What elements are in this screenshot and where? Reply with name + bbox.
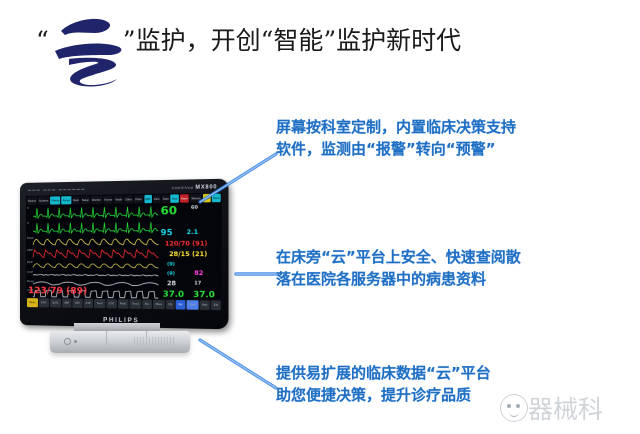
callout-2-line-2: 落在医院各服务器中的病患资料 (276, 268, 521, 290)
watermark: 器械科 (498, 388, 640, 434)
monitor-top-button-6[interactable]: Monitor (91, 196, 102, 204)
vital-awrr: 17 (194, 282, 201, 287)
callout-text-1: 屏幕按科室定制，内置临床决策支持 软件，监测由“报警”转向“预警” (276, 116, 516, 160)
callout-2-line-1: 在床旁“云”平台上安全、快速查阅散 (276, 246, 521, 268)
waveform-label-v: V (27, 221, 29, 225)
waveform-label-cvp: CVP (27, 270, 33, 274)
monitor-top-button-9[interactable]: Calcs (124, 195, 133, 203)
monitor-bottom-button-3[interactable]: ABP (62, 299, 72, 308)
page-title: “ ”监护，开创“智能”监护新时代 (36, 26, 461, 63)
monitor-bottom-toolbar[interactable]: MenuECGSpO2ABPPAPCVPTempCO2RespTrendRecW… (26, 297, 222, 311)
connector-line-1 (196, 150, 280, 211)
waveform-label-ii: II (27, 206, 29, 210)
monitor-top-button-14[interactable]: Stop (171, 194, 179, 202)
watermark-logo-icon (500, 394, 528, 422)
vital-nbp: 82 (194, 271, 203, 277)
monitor-bottom-button-8[interactable]: Resp (118, 299, 129, 308)
base-seam (106, 331, 107, 345)
monitor-brand-line: IntelliVue (172, 185, 194, 191)
page-title-bar: “ ”监护，开创“智能”监护新时代 (0, 0, 640, 88)
waveform-label-abp: ABP (27, 248, 33, 252)
monitor-top-button-7[interactable]: Trends (103, 195, 113, 203)
watermark-eye-right-icon (516, 404, 520, 408)
watermark-eye-left-icon (507, 404, 511, 408)
monitor-bottom-button-16[interactable]: Exit (211, 300, 221, 310)
waveform-row-ii: II (26, 204, 158, 221)
waveform-row-pap: PAP (26, 260, 158, 271)
vital-tblood: 37.0 (163, 290, 184, 299)
monitor-bottom-button-9[interactable]: Trend (129, 299, 141, 308)
vital-co2: 28 (167, 281, 176, 287)
vital-perf: 2.1 (187, 230, 199, 236)
watermark-smile-icon (509, 411, 519, 417)
monitor-top-button-2[interactable]: Alarms (50, 196, 60, 204)
title-rest-text: 监护，开创“智能”监护新时代 (136, 26, 462, 55)
connector-line-3 (196, 336, 280, 397)
callout-1-line-2: 软件，监测由“报警”转向“预警” (276, 138, 516, 160)
monitor-bottom-button-7[interactable]: CO2 (106, 299, 116, 308)
vital-abp: 120/70 (91) (165, 241, 208, 247)
waveform-row-pleth: Pleth (26, 235, 158, 248)
monitor-top-button-5[interactable]: Setup (81, 196, 90, 204)
monitor-top-button-12[interactable]: Zero (153, 195, 161, 203)
callout-3-line-2: 助您便捷决策，提升诊疗品质 (276, 384, 491, 406)
monitor-top-button-11[interactable]: NBP (144, 195, 152, 203)
monitor-bottom-button-4[interactable]: PAP (73, 299, 83, 308)
vital-spo2: 95 (161, 229, 173, 237)
monitor-screen[interactable]: PatientScreensAlarmsPauseMainSetupMonito… (26, 193, 222, 312)
nbp-readout: 123/79 (89) (28, 286, 87, 297)
waveform-row-abp: ABP (26, 248, 158, 260)
watermark-text: 器械科 (528, 390, 603, 426)
callout-3-line-1: 提供易扩展的临床数据“云”平台 (276, 362, 491, 384)
yun-calligraphy-icon (49, 33, 123, 63)
vital-icp: (9) (167, 273, 175, 278)
monitor-top-button-10[interactable]: Other (134, 195, 143, 203)
monitor-top-button-13[interactable]: Start (162, 195, 170, 203)
waveform-label-resp: Resp (27, 279, 34, 283)
waveform-row-v: V (26, 220, 158, 236)
monitor-bottom-button-14[interactable]: Cloud (186, 300, 198, 310)
vital-cvp: (9) (167, 263, 175, 268)
monitor-bottom-button-2[interactable]: SpO2 (50, 298, 61, 307)
callout-1-line-1: 屏幕按科室定制，内置临床决策支持 (276, 116, 516, 138)
callout-text-3: 提供易扩展的临床数据“云”平台 助您便捷决策，提升诊疗品质 (276, 362, 491, 406)
waveform-label-pap: PAP (27, 260, 33, 264)
monitor-bottom-button-11[interactable]: Wave (153, 300, 165, 310)
monitor-bottom-button-13[interactable]: Net (176, 300, 185, 310)
monitor-base-unit (50, 331, 190, 353)
monitor-bottom-button-12[interactable]: Cfg (166, 300, 175, 310)
power-button-icon[interactable] (64, 338, 71, 345)
monitor-bottom-button-10[interactable]: Rec (142, 300, 152, 309)
callout-text-2: 在床旁“云”平台上安全、快速查阅散 落在医院各服务器中的病患资料 (276, 246, 521, 290)
vitals-numerics-panel: 6060952.1120/70 (91)28/15 (21)(9)(9)8228… (158, 203, 221, 300)
waveform-label-pleth: Pleth (27, 236, 34, 240)
monitor-top-button-8[interactable]: Vitals (114, 195, 123, 203)
base-vent-grill (134, 337, 174, 346)
indicator-led-icon (74, 340, 77, 343)
bezel-left-marks: ▬▬▬ ▬▬▬ ▬▬▬▬▬▬ (28, 187, 86, 192)
monitor-bottom-button-0[interactable]: Menu (27, 298, 38, 307)
monitor-top-button-4[interactable]: Main (72, 196, 80, 204)
monitor-top-button-3[interactable]: Pause (62, 196, 71, 204)
monitor-top-button-0[interactable]: Patient (27, 197, 37, 205)
monitor-bottom-button-5[interactable]: CVP (83, 299, 93, 308)
vital-hr: 60 (161, 205, 178, 217)
connector-line-2 (234, 266, 280, 284)
vital-tcore: 37.0 (193, 291, 215, 300)
monitor-top-button-15[interactable]: Alarm (180, 194, 189, 203)
vital-pap: 28/15 (21) (169, 252, 207, 258)
monitor-top-button-1[interactable]: Screens (38, 197, 50, 205)
monitor-bottom-button-6[interactable]: Temp (94, 299, 105, 308)
monitor-bottom-button-1[interactable]: ECG (39, 298, 49, 307)
monitor-bottom-button-15[interactable]: Help (199, 300, 210, 310)
